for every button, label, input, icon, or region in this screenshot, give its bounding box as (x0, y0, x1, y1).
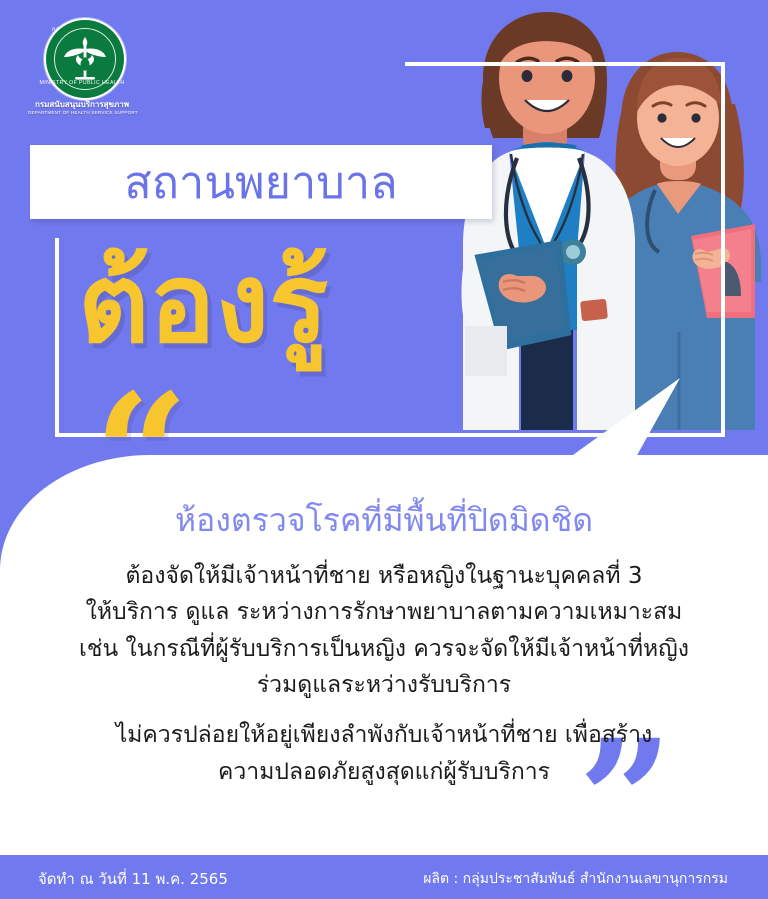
ministry-seal-icon (44, 18, 126, 100)
content-block: ห้องตรวจโรคที่มีพื้นที่ปิดมิดชิด ต้องจัด… (0, 500, 768, 790)
body-line: ความปลอดภัยสูงสุดแก่ผู้รับบริการ (0, 754, 768, 790)
body-line: ต้องจัดให้มีเจ้าหน้าที่ชาย หรือหญิงในฐาน… (0, 558, 768, 594)
body-line: ไม่ควรปล่อยให้อยู่เพียงลำพังกับเจ้าหน้าท… (0, 717, 768, 753)
body-line: ให้บริการ ดูแล ระหว่างการรักษาพยาบาลตามค… (0, 594, 768, 630)
body-line: เช่น ในกรณีที่ผู้รับบริการเป็นหญิง ควรจะ… (0, 631, 768, 667)
logo-english-caption: DEPARTMENT OF HEALTH SERVICE SUPPORT (28, 110, 136, 115)
infographic-poster: กระทรวงสาธารณสุข MINISTRY OF PUBLIC HEAL… (0, 0, 768, 899)
content-heading: ห้องตรวจโรคที่มีพื้นที่ปิดมิดชิด (0, 500, 768, 540)
paragraph-gap (0, 703, 768, 717)
page-title: สถานพยาบาล (124, 160, 397, 205)
frame-line-right (721, 62, 725, 437)
headline-text: ต้องรู้ (78, 228, 498, 378)
body-line: ร่วมดูแลระหว่างรับบริการ (0, 667, 768, 703)
footer-date-text: จัดทำ ณ วันที่ 11 พ.ค. 2565 (38, 867, 228, 891)
frame-line-top (405, 62, 725, 66)
logo-arc-bottom-text: MINISTRY OF PUBLIC HEALTH (28, 80, 136, 86)
frame-line-left (55, 238, 59, 437)
ministry-logo: กระทรวงสาธารณสุข MINISTRY OF PUBLIC HEAL… (28, 18, 136, 118)
footer-bar: จัดทำ ณ วันที่ 11 พ.ค. 2565 ผลิต : กลุ่ม… (0, 855, 768, 899)
footer-producer-text: ผลิต : กลุ่มประชาสัมพันธ์ สำนักงานเลขานุ… (423, 868, 728, 890)
title-band: สถานพยาบาล (30, 145, 492, 219)
caduceus-icon (62, 33, 108, 85)
